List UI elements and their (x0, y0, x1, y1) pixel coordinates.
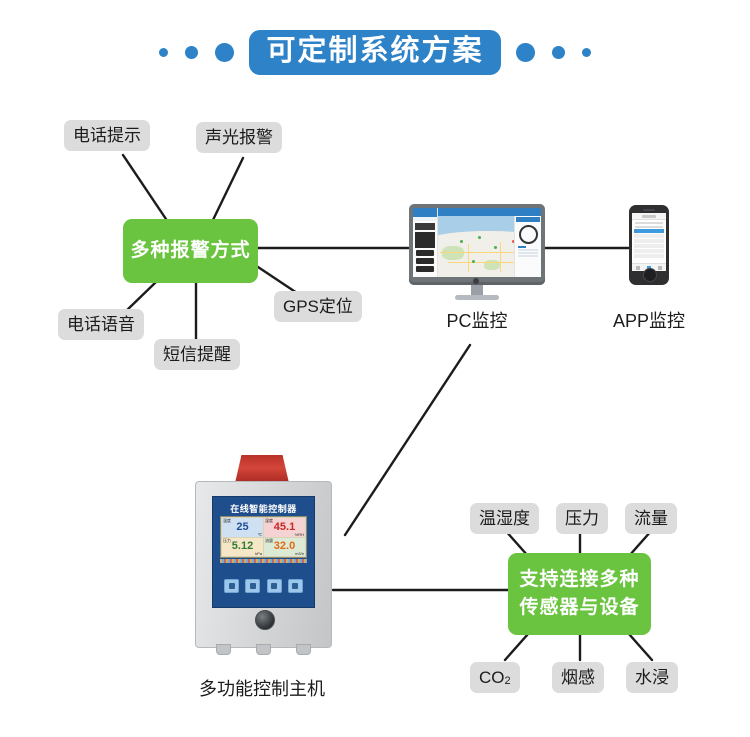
reading-flow-value: 32.0 (274, 541, 295, 552)
alarm-methods-label: 多种报警方式 (130, 237, 250, 265)
sensor-co2-subscript: 2 (505, 676, 511, 687)
sidebar-video-thumbnail (415, 232, 435, 248)
cable-gland (296, 644, 311, 655)
lcd-status-strip (220, 559, 307, 563)
sensor-co2-label: CO (479, 669, 505, 686)
map-road (440, 252, 515, 253)
reading-temperature-label: 温度 (223, 518, 231, 524)
app-list-row (634, 249, 664, 253)
sensor-support-node[interactable]: 支持连接多种 传感器与设备 (508, 553, 651, 635)
gauge-icon (519, 225, 538, 244)
reading-humidity-label: 湿度 (265, 518, 273, 524)
panel-row (518, 246, 526, 248)
sensor-temp-humidity-label: 温湿度 (479, 510, 530, 527)
monitor-stand-base (455, 295, 499, 300)
app-header-title-bar (642, 215, 656, 218)
sensor-water-leak-label: 水浸 (635, 669, 669, 686)
controller-key-1[interactable] (224, 579, 239, 593)
pc-monitor[interactable] (409, 204, 545, 300)
phone-screen (632, 213, 666, 271)
alarm-voice-call[interactable]: 电话语音 (58, 309, 144, 340)
map-coastline (438, 231, 515, 247)
reading-humidity-unit: %RH (295, 532, 304, 537)
alarm-sound-light-label: 声光报警 (205, 129, 273, 146)
dashboard-sidebar (413, 208, 438, 277)
map-road (448, 262, 515, 263)
map-road (468, 244, 469, 272)
sidebar-button (416, 250, 434, 256)
phone-body (629, 205, 669, 285)
sensor-smoke-label: 烟感 (561, 669, 595, 686)
app-tab (632, 264, 643, 271)
reading-flow: 流量 32.0 m3/h (264, 538, 305, 557)
reading-pressure-label: 压力 (223, 538, 231, 544)
controller-key-4[interactable] (288, 579, 303, 593)
pc-caption: PC监控 (409, 312, 545, 330)
tab-icon (658, 266, 662, 270)
map-marker (460, 240, 463, 243)
dashboard-right-panel (514, 216, 541, 277)
key-icon (250, 583, 256, 589)
alarm-voice-call-label: 电话语音 (67, 316, 135, 333)
map-road (500, 242, 501, 272)
panel-row (518, 252, 538, 254)
header-dot-medium-right (552, 46, 565, 59)
controller-lcd: 温度 25 ℃ 湿度 45.1 %RH 压力 5.12 kPa 流量 32.0 (220, 516, 307, 558)
key-icon (271, 583, 277, 589)
reading-humidity-value: 45.1 (274, 522, 295, 533)
app-header (632, 213, 666, 220)
map-marker (472, 260, 475, 263)
monitor-screen (413, 208, 541, 277)
app-tab (655, 264, 666, 271)
reading-flow-label: 流量 (265, 538, 273, 544)
map-view (438, 216, 515, 277)
diagram-canvas: 可定制系统方案 (0, 0, 750, 737)
sidebar-header-bar (413, 208, 437, 217)
sensor-support-label-line1: 支持连接多种 (519, 566, 639, 594)
app-list-row (634, 244, 664, 248)
reading-temperature-unit: ℃ (258, 532, 263, 537)
monitor-power-dot (473, 278, 479, 284)
app-list-row (634, 239, 664, 243)
controller-key-3[interactable] (267, 579, 282, 593)
phone-home-button (643, 268, 657, 282)
alarm-beacon-icon (235, 455, 289, 483)
header-dot-large-left (215, 43, 234, 62)
controller-front-panel: 在线智能控制器 温度 25 ℃ 湿度 45.1 %RH 压力 5.12 kPa (212, 496, 315, 608)
multifunction-controller[interactable]: 在线智能控制器 温度 25 ℃ 湿度 45.1 %RH 压力 5.12 kPa (190, 455, 335, 670)
alarm-sms-label: 短信提醒 (163, 346, 231, 363)
app-text-line (635, 222, 663, 224)
alarm-sound-light[interactable]: 声光报警 (196, 122, 282, 153)
alarm-phone-prompt-label: 电话提示 (73, 127, 141, 144)
sensor-pressure-label: 压力 (565, 510, 599, 527)
panel-row (518, 255, 538, 257)
monitor-bezel (409, 204, 545, 285)
reading-pressure: 压力 5.12 kPa (222, 538, 263, 557)
alarm-sms[interactable]: 短信提醒 (154, 339, 240, 370)
panel-header-bar (516, 217, 540, 222)
app-list-row-selected (634, 229, 664, 233)
alarm-gps[interactable]: GPS定位 (274, 291, 362, 322)
link-sensor-water-leak (629, 634, 652, 660)
header-dot-small-right (582, 48, 591, 57)
link-alarm-sound-light (212, 158, 243, 222)
sidebar-thumbnail (415, 223, 435, 230)
reading-temperature-value: 25 (236, 522, 248, 533)
sidebar-button (416, 258, 434, 264)
reading-flow-unit: m3/h (295, 551, 304, 556)
link-controller-to-pc (345, 345, 470, 535)
alarm-phone-prompt[interactable]: 电话提示 (64, 120, 150, 151)
sensor-flow[interactable]: 流量 (625, 503, 677, 534)
sidebar-subheader (413, 217, 437, 221)
app-list-row (634, 254, 664, 258)
header-dot-small-left (159, 48, 168, 57)
cable-gland (256, 644, 271, 655)
link-alarm-phone-prompt (123, 155, 170, 225)
sensor-smoke[interactable]: 烟感 (552, 662, 604, 693)
sensor-water-leak[interactable]: 水浸 (626, 662, 678, 693)
sensor-pressure[interactable]: 压力 (556, 503, 608, 534)
alarm-methods-node[interactable]: 多种报警方式 (123, 219, 258, 283)
app-list-row (634, 234, 664, 238)
dashboard-topbar (438, 208, 541, 216)
phone-speaker (643, 209, 655, 211)
controller-key-2[interactable] (245, 579, 260, 593)
cable-gland (216, 644, 231, 655)
tab-icon (636, 266, 640, 270)
alarm-gps-label: GPS定位 (283, 298, 353, 315)
app-text-line (635, 226, 663, 228)
app-phone[interactable] (629, 205, 669, 285)
reading-pressure-unit: kPa (255, 551, 262, 556)
sensor-support-label-line2: 传感器与设备 (519, 594, 639, 622)
sensor-flow-label: 流量 (634, 510, 668, 527)
map-park (442, 246, 464, 260)
reading-pressure-value: 5.12 (232, 541, 253, 552)
map-marker (494, 246, 497, 249)
map-marker (478, 236, 481, 239)
reading-temperature: 温度 25 ℃ (222, 518, 263, 537)
link-sensor-co2 (505, 634, 528, 660)
controller-keypad (224, 579, 303, 591)
controller-knob[interactable] (255, 610, 275, 630)
controller-caption: 多功能控制主机 (182, 680, 342, 698)
page-title: 可定制系统方案 (249, 30, 500, 75)
reading-humidity: 湿度 45.1 %RH (264, 518, 305, 537)
sensor-temp-humidity[interactable]: 温湿度 (470, 503, 539, 534)
controller-panel-title: 在线智能控制器 (213, 502, 314, 515)
dashboard-main (438, 208, 541, 277)
header-dot-large-right (516, 43, 535, 62)
sidebar-button (416, 266, 434, 272)
sensor-co2[interactable]: CO2 (470, 662, 520, 693)
page-header: 可定制系统方案 (0, 22, 750, 82)
monitor-stand-neck (471, 285, 483, 295)
header-dot-medium-left (185, 46, 198, 59)
key-icon (229, 583, 235, 589)
app-caption: APP监控 (584, 312, 714, 330)
panel-row (518, 249, 538, 251)
key-icon (292, 583, 298, 589)
